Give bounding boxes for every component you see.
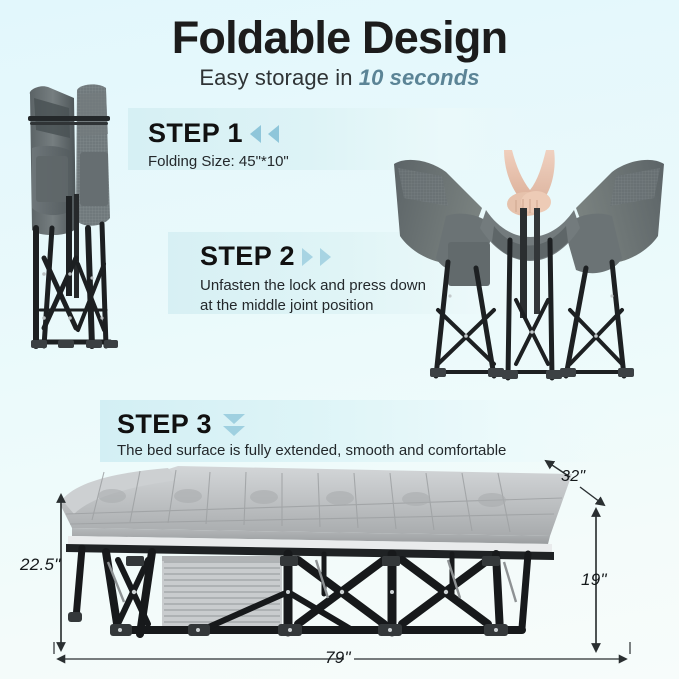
dimension-height-left-label: 22.5" — [20, 555, 61, 575]
page-title: Foldable Design — [0, 14, 679, 61]
chevron-down-group — [223, 414, 245, 436]
step-3-title: STEP 3 — [117, 409, 212, 440]
step-3-label: STEP 3 — [117, 409, 245, 440]
extended-cot-image — [52, 452, 582, 647]
subtitle-accent: 10 seconds — [359, 65, 480, 90]
subtitle-prefix: Easy storage in — [199, 65, 358, 90]
chevron-down-icon — [223, 426, 245, 436]
step-1-label: STEP 1 — [148, 118, 279, 149]
hands-pressing-cot-image — [390, 150, 668, 385]
chevron-right-icon — [302, 248, 313, 266]
dimension-length-label: 79" — [325, 648, 351, 668]
chevron-down-icon — [223, 414, 245, 424]
step-1-title: STEP 1 — [148, 118, 243, 149]
chevron-left-icon — [250, 125, 261, 143]
folded-cot-image — [14, 78, 144, 368]
dimension-height-right-label: 19" — [581, 570, 607, 590]
step-1-description: Folding Size: 45"*10" — [148, 152, 289, 172]
chevron-left-icon — [268, 125, 279, 143]
step-2-label: STEP 2 — [200, 241, 331, 272]
infographic-canvas: Foldable Design Easy storage in 10 secon… — [0, 0, 679, 679]
dimension-depth-label: 32" — [561, 468, 585, 486]
chevron-right-icon — [320, 248, 331, 266]
step-2-title: STEP 2 — [200, 241, 295, 272]
